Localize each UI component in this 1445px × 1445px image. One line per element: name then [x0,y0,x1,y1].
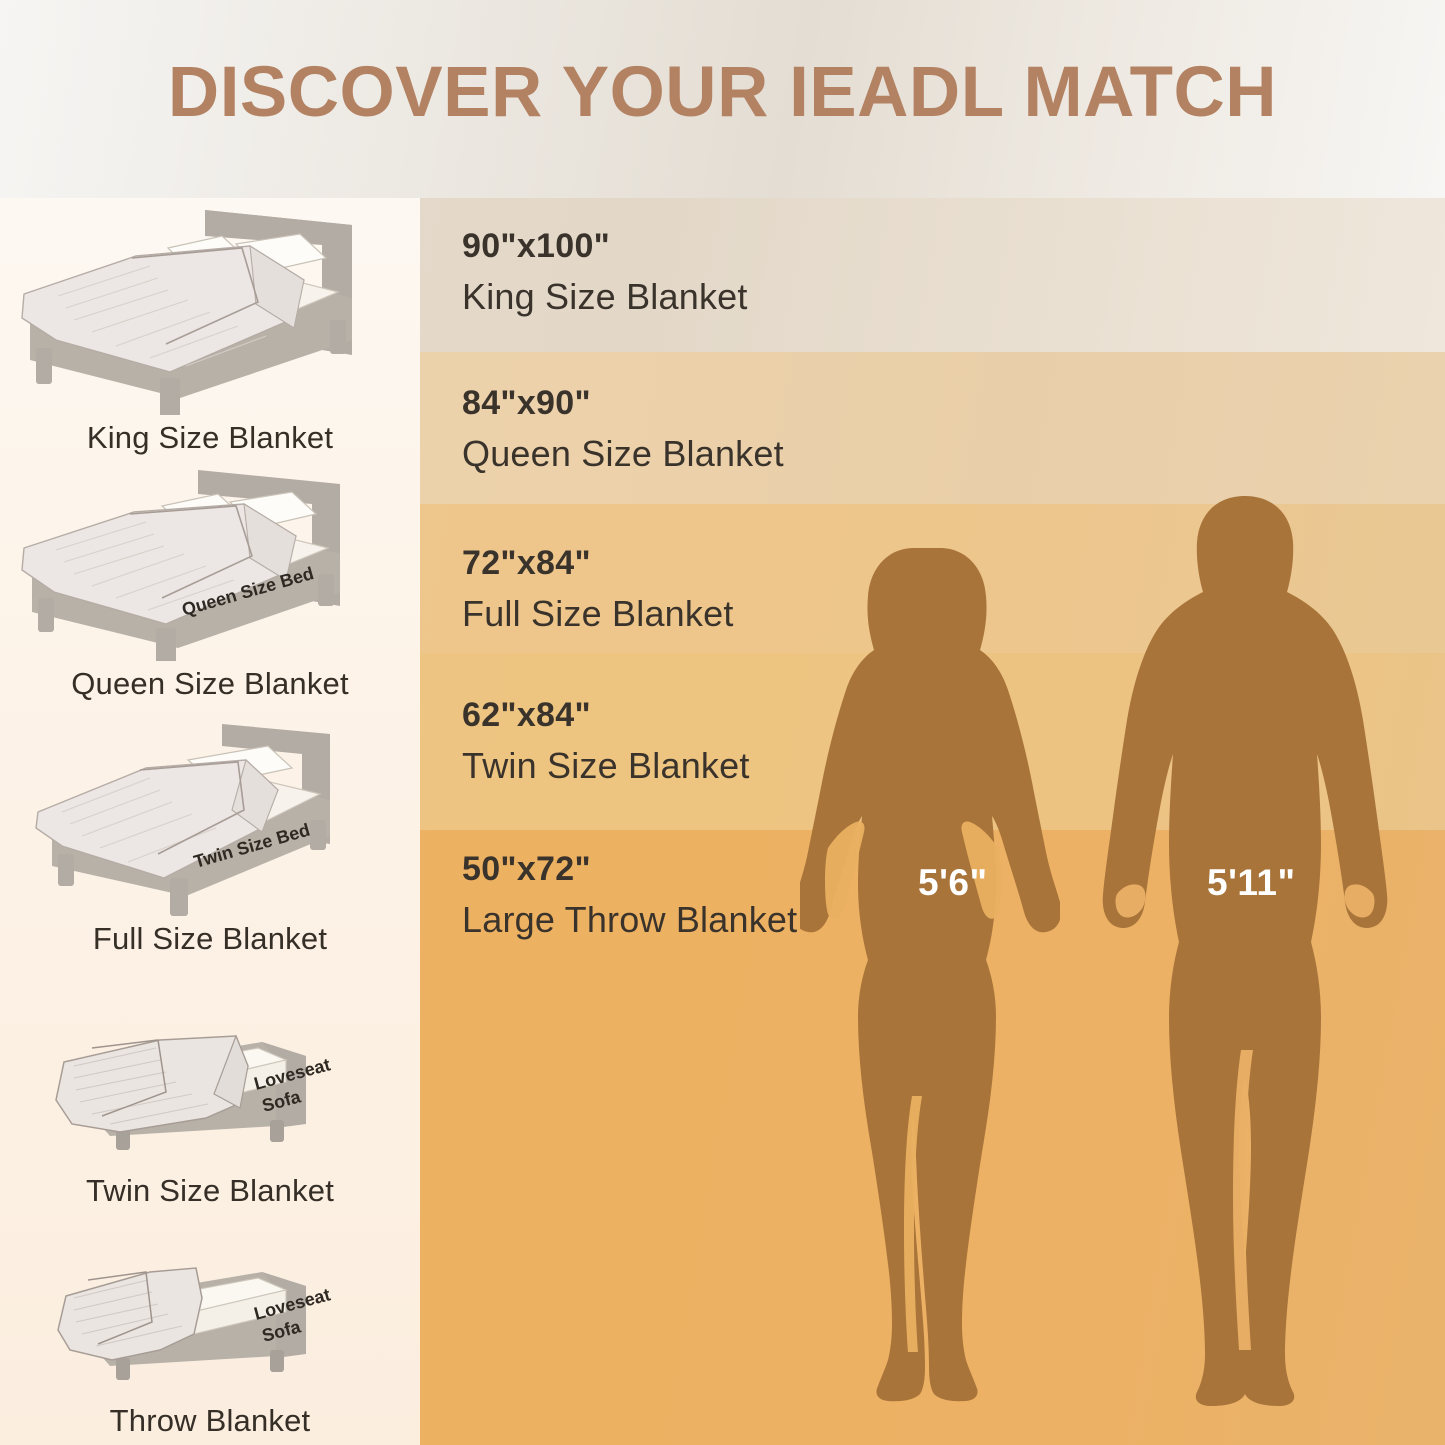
size-dimensions-king: 90"x100" [462,228,982,265]
size-dimensions-throw: 50"x72" [462,851,982,888]
size-name-full: Full Size Blanket [462,594,982,634]
male-silhouette [1095,490,1395,1410]
blanket-size-guide-infographic: DISCOVER YOUR IEADL MATCH 5'6" 5'11" [0,0,1445,1445]
size-name-twin: Twin Size Blanket [462,746,982,786]
bed-card-twin: Loveseat Sofa Twin Size Blanket [0,1008,420,1209]
male-height-label: 5'11" [1207,862,1296,904]
bed-label-throw: Throw Blanket [0,1403,420,1439]
size-row-queen: 84"x90" Queen Size Blanket [462,385,982,474]
size-name-queen: Queen Size Blanket [462,434,982,474]
size-dimensions-full: 72"x84" [462,545,982,582]
bed-label-queen: Queen Size Blanket [0,666,420,702]
size-row-full: 72"x84" Full Size Blanket [462,545,982,634]
bed-card-king: King Size Blanket [0,200,420,456]
size-dimensions-queen: 84"x90" [462,385,982,422]
king-bed-illustration [0,200,420,420]
bed-card-queen: Queen Size Bed Queen Size Blanket [0,456,420,702]
queen-bed-illustration: Queen Size Bed [0,456,420,666]
size-name-throw: Large Throw Blanket [462,900,982,940]
twin-bed-illustration: Twin Size Bed [0,716,420,921]
size-name-king: King Size Blanket [462,277,982,317]
bed-card-throw: Loveseat Sofa Throw Blanket [0,1238,420,1439]
bed-illustration-panel: King Size Blanket [0,198,420,1445]
loveseat-sofa-illustration-1: Loveseat Sofa [0,1008,420,1173]
loveseat-sofa-illustration-2: Loveseat Sofa [0,1238,420,1403]
size-row-throw: 50"x72" Large Throw Blanket [462,851,982,940]
size-row-twin: 62"x84" Twin Size Blanket [462,697,982,786]
bed-label-full: Full Size Blanket [0,921,420,957]
header-banner: DISCOVER YOUR IEADL MATCH [0,0,1445,198]
bed-label-king: King Size Blanket [0,420,420,456]
size-row-king: 90"x100" King Size Blanket [462,228,982,317]
size-dimensions-twin: 62"x84" [462,697,982,734]
bed-label-twin: Twin Size Blanket [0,1173,420,1209]
female-silhouette [800,540,1060,1410]
page-title: DISCOVER YOUR IEADL MATCH [0,52,1445,133]
bed-card-full: Twin Size Bed Full Size Blanket [0,716,420,957]
